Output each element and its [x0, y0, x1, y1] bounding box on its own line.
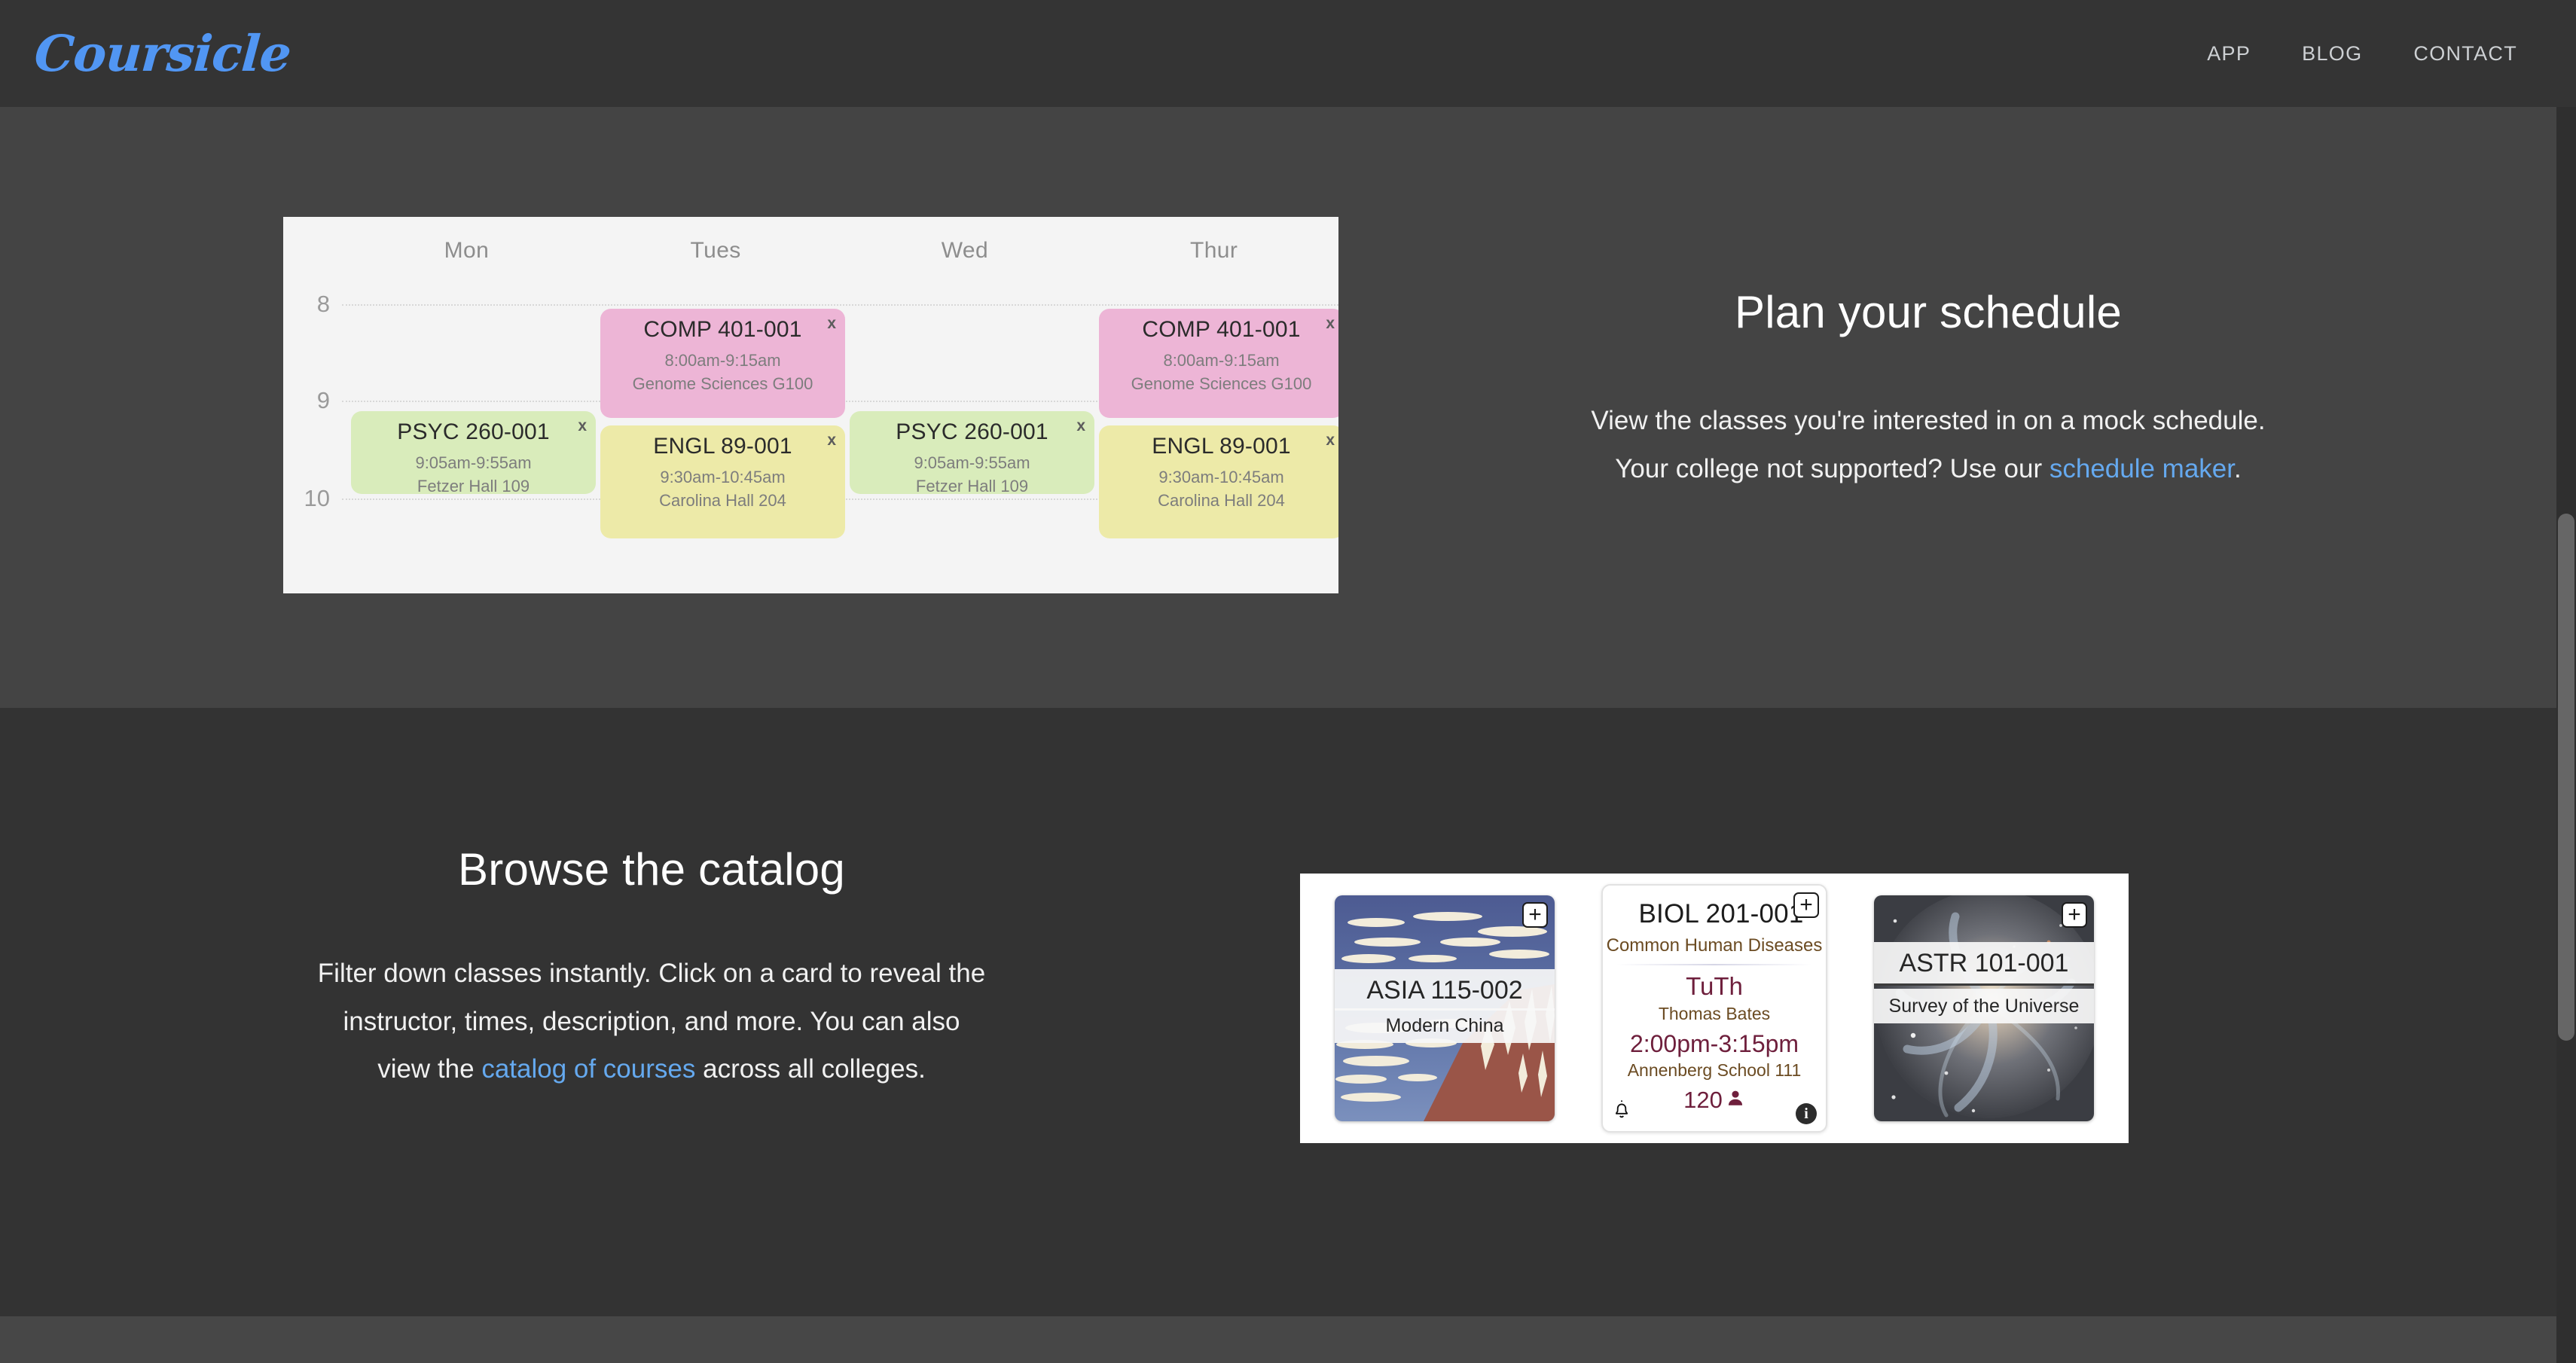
card-divider: [1616, 964, 1812, 965]
course-card-astr-101[interactable]: + ASTR 101-001 Survey of the Universe: [1874, 895, 2094, 1121]
event-time: 9:30am-10:45am: [608, 465, 838, 489]
course-card-days: TuTh: [1686, 973, 1743, 1000]
plan-body-line2: Your college not supported? Use our sche…: [1378, 445, 2478, 493]
hour-label-10: 10: [283, 485, 330, 512]
event-location: Fetzer Hall 109: [857, 474, 1087, 494]
event-card-psyc-260-wed[interactable]: x PSYC 260-001 9:05am-9:55am Fetzer Hall…: [850, 411, 1094, 494]
page-root: Coursicle APP BLOG CONTACT Mon Tues Wed …: [0, 0, 2576, 1363]
nav-link-contact[interactable]: CONTACT: [2413, 42, 2517, 66]
event-card-comp-401-tues[interactable]: x COMP 401-001 8:00am-9:15am Genome Scie…: [600, 309, 845, 418]
bell-icon[interactable]: [1612, 1099, 1631, 1125]
schedule-header-spacer: [283, 217, 342, 276]
course-card-seats: 120: [1683, 1087, 1745, 1114]
plan-schedule-textblock: Plan your schedule View the classes you'…: [1378, 286, 2478, 492]
person-icon: [1726, 1087, 1745, 1114]
plan-schedule-body: View the classes you're interested in on…: [1378, 397, 2478, 492]
nav-link-app[interactable]: APP: [2207, 42, 2251, 66]
plan-line2-suffix: .: [2234, 454, 2242, 483]
day-header-wed: Wed: [841, 217, 1090, 276]
plan-body-line1: View the classes you're interested in on…: [1378, 397, 2478, 445]
event-location: Carolina Hall 204: [608, 489, 838, 513]
course-card-location: Annenberg School 111: [1628, 1060, 1802, 1081]
top-navbar: Coursicle APP BLOG CONTACT: [0, 0, 2576, 107]
event-location: Genome Sciences G100: [1106, 372, 1336, 396]
browse-catalog-textblock: Browse the catalog Filter down classes i…: [188, 843, 1115, 1093]
course-card-code: BIOL 201-001: [1625, 899, 1803, 929]
event-time: 8:00am-9:15am: [1106, 349, 1336, 373]
course-card-name: Survey of the Universe: [1874, 989, 2094, 1023]
page-bottom-band: [0, 1316, 2576, 1363]
schedule-grid: 8 9 10 x PSYC 260-001 9:05am-9:55am Fetz…: [283, 276, 1338, 593]
event-location: Carolina Hall 204: [1106, 489, 1336, 513]
page-scrollbar-thumb[interactable]: [2558, 514, 2574, 1041]
course-card-code: ASIA 115-002: [1335, 969, 1555, 1011]
catalog-cards-panel: + ASIA 115-002 Modern China + BIOL 201-0…: [1300, 874, 2129, 1143]
event-close-icon[interactable]: x: [1326, 431, 1335, 450]
event-title: ENGL 89-001: [608, 435, 838, 459]
event-location: Genome Sciences G100: [608, 372, 838, 396]
coursicle-logo[interactable]: Coursicle: [32, 24, 292, 83]
schedule-day-header: Mon Tues Wed Thur: [283, 217, 1338, 276]
course-card-time: 2:00pm-3:15pm: [1630, 1030, 1799, 1058]
event-title: PSYC 260-001: [857, 420, 1087, 444]
course-card-code: ASTR 101-001: [1874, 942, 2094, 986]
browse-catalog-title: Browse the catalog: [188, 843, 1115, 895]
page-scrollbar-track[interactable]: [2556, 107, 2576, 1363]
event-close-icon[interactable]: x: [578, 417, 587, 435]
nav-link-blog[interactable]: BLOG: [2302, 42, 2362, 66]
browse-catalog-body: Filter down classes instantly. Click on …: [188, 950, 1115, 1093]
schedule-maker-link[interactable]: schedule maker: [2050, 454, 2234, 483]
hour-label-9: 9: [283, 387, 330, 414]
day-header-thur: Thur: [1089, 217, 1338, 276]
event-card-engl-89-tues[interactable]: x ENGL 89-001 9:30am-10:45am Carolina Ha…: [600, 425, 845, 538]
schedule-column-tues: x COMP 401-001 8:00am-9:15am Genome Scie…: [591, 276, 841, 593]
hour-label-8: 8: [283, 291, 330, 318]
event-time: 9:05am-9:55am: [359, 451, 588, 475]
day-header-mon: Mon: [342, 217, 591, 276]
event-close-icon[interactable]: x: [827, 315, 836, 333]
course-card-name: Modern China: [1335, 1008, 1555, 1043]
event-close-icon[interactable]: x: [1076, 417, 1085, 435]
add-course-plus-icon[interactable]: +: [2062, 902, 2087, 928]
event-title: ENGL 89-001: [1106, 435, 1336, 459]
course-card-biol-201[interactable]: + BIOL 201-001 Common Human Diseases TuT…: [1601, 884, 1827, 1133]
catalog-of-courses-link[interactable]: catalog of courses: [481, 1054, 695, 1084]
event-card-psyc-260-mon[interactable]: x PSYC 260-001 9:05am-9:55am Fetzer Hall…: [351, 411, 596, 494]
event-close-icon[interactable]: x: [1326, 315, 1335, 333]
catalog-body-line2: instructor, times, description, and more…: [188, 998, 1115, 1046]
course-card-seat-count: 120: [1683, 1087, 1723, 1114]
course-card-asia-115[interactable]: + ASIA 115-002 Modern China: [1335, 895, 1555, 1121]
schedule-column-mon: x PSYC 260-001 9:05am-9:55am Fetzer Hall…: [342, 276, 591, 593]
mock-schedule-widget[interactable]: Mon Tues Wed Thur 8 9 10 x PSYC 260-001 …: [283, 217, 1338, 593]
event-time: 9:30am-10:45am: [1106, 465, 1336, 489]
course-card-name: Common Human Diseases: [1607, 935, 1823, 956]
day-header-tues: Tues: [591, 217, 841, 276]
event-time: 9:05am-9:55am: [857, 451, 1087, 475]
catalog-body-line1: Filter down classes instantly. Click on …: [188, 950, 1115, 998]
event-card-comp-401-thur[interactable]: x COMP 401-001 8:00am-9:15am Genome Scie…: [1099, 309, 1338, 418]
plan-schedule-title: Plan your schedule: [1378, 286, 2478, 338]
event-title: COMP 401-001: [608, 318, 838, 342]
event-title: PSYC 260-001: [359, 420, 588, 444]
schedule-column-wed: x PSYC 260-001 9:05am-9:55am Fetzer Hall…: [841, 276, 1090, 593]
course-card-instructor: Thomas Bates: [1659, 1004, 1770, 1024]
add-course-plus-icon[interactable]: +: [1793, 892, 1819, 918]
event-card-engl-89-thur[interactable]: x ENGL 89-001 9:30am-10:45am Carolina Ha…: [1099, 425, 1338, 538]
nav-links: APP BLOG CONTACT: [2207, 42, 2532, 66]
plan-line2-prefix: Your college not supported? Use our: [1615, 454, 2050, 483]
event-time: 8:00am-9:15am: [608, 349, 838, 373]
event-location: Fetzer Hall 109: [359, 474, 588, 494]
catalog-body-line3: view the catalog of courses across all c…: [188, 1045, 1115, 1093]
add-course-plus-icon[interactable]: +: [1522, 902, 1548, 928]
info-icon[interactable]: i: [1796, 1103, 1817, 1124]
event-close-icon[interactable]: x: [827, 431, 836, 450]
catalog-line3-prefix: view the: [377, 1054, 481, 1084]
schedule-column-thur: x COMP 401-001 8:00am-9:15am Genome Scie…: [1090, 276, 1338, 593]
event-title: COMP 401-001: [1106, 318, 1336, 342]
catalog-line3-suffix: across all colleges.: [695, 1054, 925, 1084]
